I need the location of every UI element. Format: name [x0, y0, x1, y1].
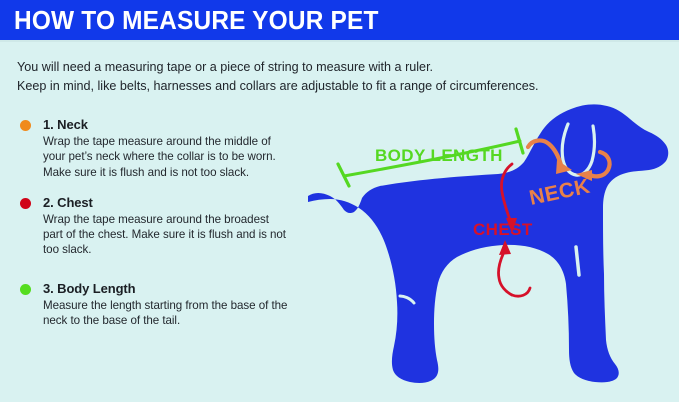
- dog-diagram: BODY LENGTH NECK: [300, 100, 679, 402]
- list-item-body: Measure the length starting from the bas…: [43, 298, 309, 329]
- body-line: Make sure it is flush and is not too sla…: [43, 165, 309, 180]
- body-line: neck to the base of the tail.: [43, 313, 309, 328]
- intro-line-2: Keep in mind, like belts, harnesses and …: [17, 77, 647, 96]
- list-item: 1. Neck Wrap the tape measure around the…: [17, 116, 309, 180]
- page-title: HOW TO MEASURE YOUR PET: [14, 4, 379, 36]
- body-line: your pet’s neck where the collar is to b…: [43, 149, 309, 164]
- bullet-icon-neck: [20, 120, 31, 131]
- intro-line-1: You will need a measuring tape or a piec…: [17, 58, 647, 77]
- body-line: too slack.: [43, 242, 309, 257]
- list-item-title: 2. Chest: [43, 194, 309, 211]
- list-item-title: 1. Neck: [43, 116, 309, 133]
- body-line: part of the chest. Make sure it is flush…: [43, 227, 309, 242]
- header-bar: HOW TO MEASURE YOUR PET: [0, 0, 679, 40]
- bullet-icon-chest: [20, 198, 31, 209]
- body-length-label: BODY LENGTH: [375, 146, 503, 165]
- list-item-body: Wrap the tape measure around the middle …: [43, 134, 309, 180]
- front-leg-notch: [513, 250, 517, 280]
- bullet-icon-body-length: [20, 284, 31, 295]
- measurement-list: 1. Neck Wrap the tape measure around the…: [17, 116, 309, 342]
- chest-belly-hook: [512, 288, 530, 296]
- chest-label: CHEST: [473, 220, 533, 239]
- intro-paragraph: You will need a measuring tape or a piec…: [17, 58, 647, 96]
- list-item: 3. Body Length Measure the length starti…: [17, 280, 309, 329]
- chest-arrow-lower-curve: [498, 250, 512, 295]
- list-item: 2. Chest Wrap the tape measure around th…: [17, 194, 309, 258]
- infographic-root: HOW TO MEASURE YOUR PET You will need a …: [0, 0, 679, 402]
- list-item-title: 3. Body Length: [43, 280, 309, 297]
- header-divider: [0, 40, 679, 42]
- body-line: Wrap the tape measure around the broades…: [43, 212, 309, 227]
- body-line: Wrap the tape measure around the middle …: [43, 134, 309, 149]
- list-item-body: Wrap the tape measure around the broades…: [43, 212, 309, 258]
- body-line: Measure the length starting from the bas…: [43, 298, 309, 313]
